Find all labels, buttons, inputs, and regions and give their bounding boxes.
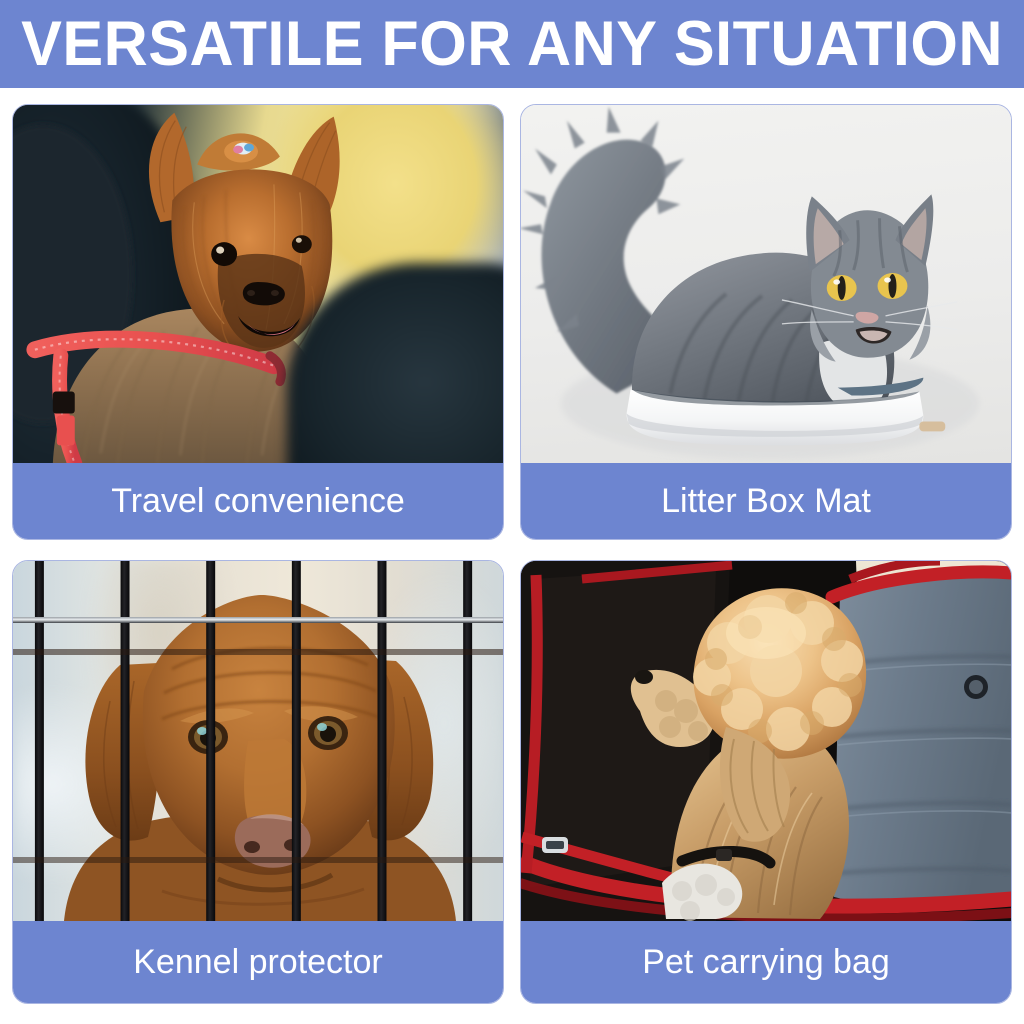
card-caption: Kennel protector bbox=[13, 921, 503, 1003]
feature-card-kennel-protector[interactable]: Kennel protector bbox=[12, 560, 504, 1004]
grey-cat-in-litter-box-photo bbox=[521, 105, 1011, 463]
header-banner: VERSATILE FOR ANY SITUATION bbox=[0, 0, 1024, 88]
poodle-in-carrier-bag-photo bbox=[521, 561, 1011, 921]
poster-root: VERSATILE FOR ANY SITUATION bbox=[0, 0, 1024, 1024]
cat-illustration bbox=[521, 105, 1011, 463]
card-caption: Pet carrying bag bbox=[521, 921, 1011, 1003]
brown-dog-behind-kennel-bars-photo bbox=[13, 561, 503, 921]
card-caption: Litter Box Mat bbox=[521, 463, 1011, 539]
feature-card-pet-carrying-bag[interactable]: Pet carrying bag bbox=[520, 560, 1012, 1004]
yorkshire-terrier-in-car-photo bbox=[13, 105, 503, 463]
feature-card-travel-convenience[interactable]: Travel convenience bbox=[12, 104, 504, 540]
yorkie-illustration bbox=[13, 105, 503, 463]
card-caption: Travel convenience bbox=[13, 463, 503, 539]
page-title: VERSATILE FOR ANY SITUATION bbox=[21, 12, 1003, 76]
poodle-in-bag-illustration bbox=[521, 561, 1011, 921]
kennel-bars-overlay bbox=[13, 561, 503, 921]
feature-grid: Travel convenience bbox=[12, 104, 1012, 1004]
feature-card-litter-box-mat[interactable]: Litter Box Mat bbox=[520, 104, 1012, 540]
